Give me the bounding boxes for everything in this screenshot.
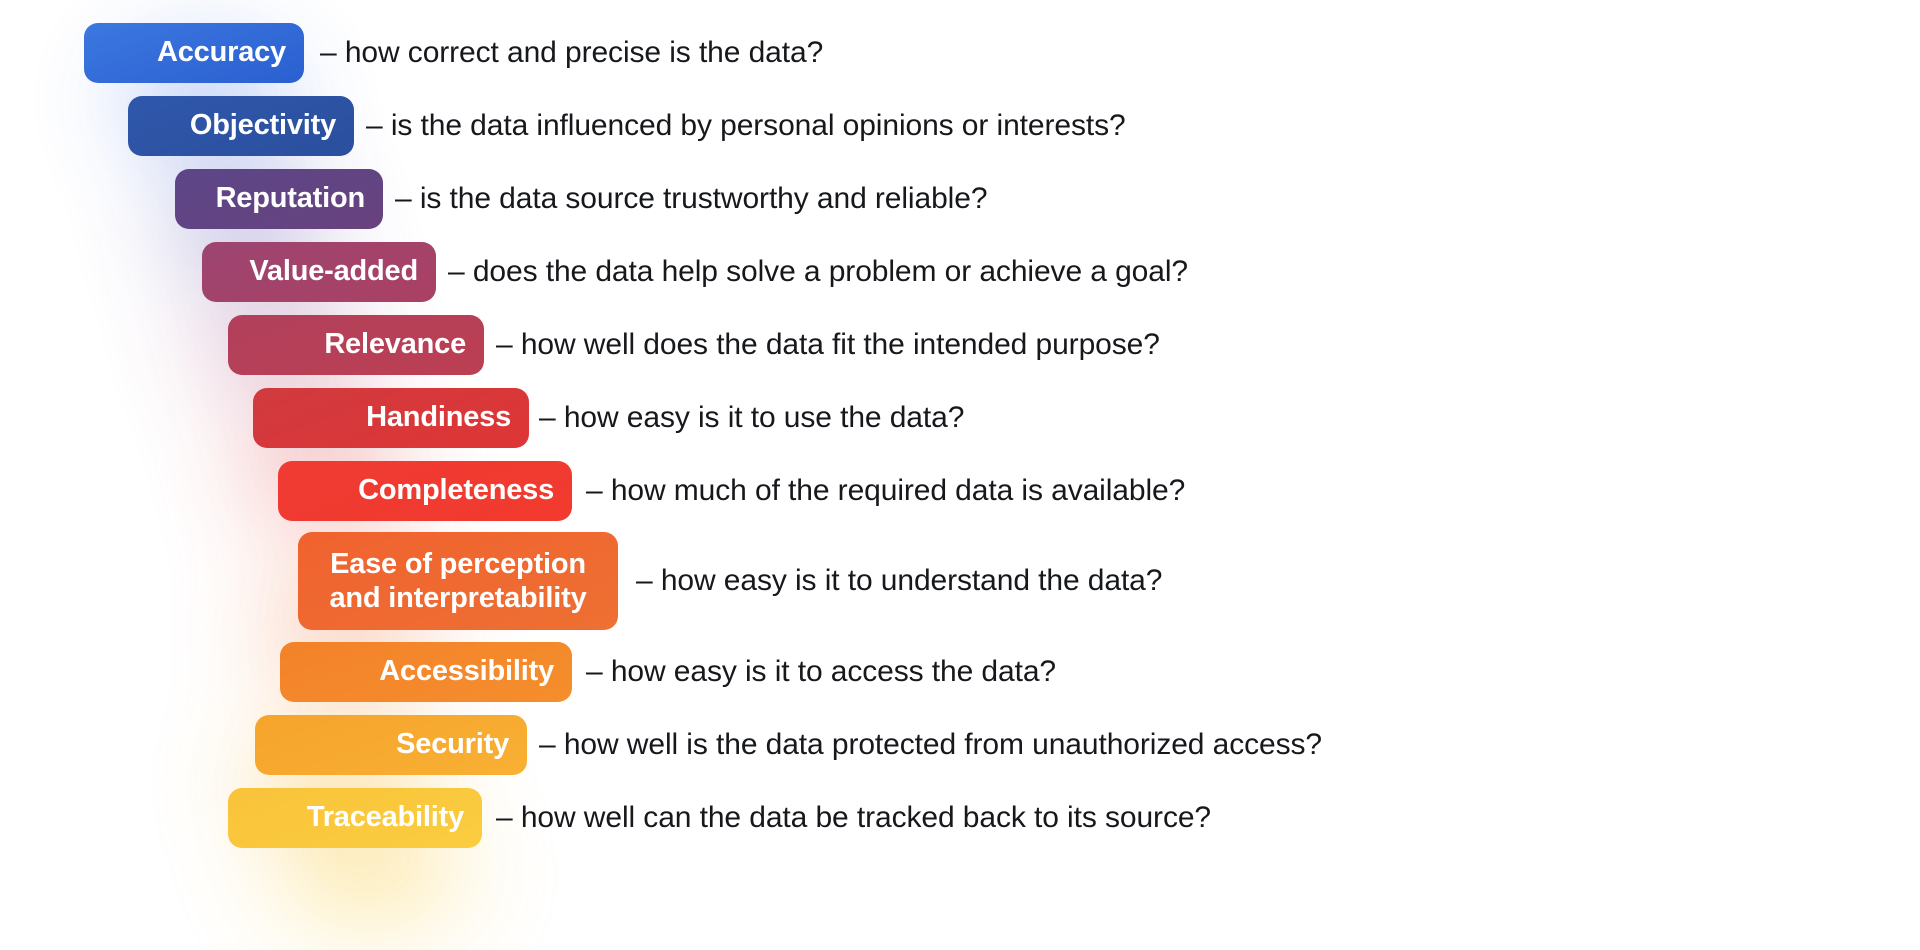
slide-canvas: Accuracy– how correct and precise is the… [0,0,1920,950]
criteria-label-line1: Ease of perception [329,547,586,581]
criteria-description: – how easy is it to use the data? [539,401,964,435]
criteria-row: Handiness– how easy is it to use the dat… [0,381,1920,454]
criteria-pill[interactable]: Accessibility [280,642,572,702]
criteria-label: Objectivity [190,108,336,142]
criteria-description: – is the data source trustworthy and rel… [395,182,987,216]
criteria-pill[interactable]: Objectivity [128,96,354,156]
criteria-label: Security [396,727,509,761]
criteria-pill[interactable]: Security [255,715,527,775]
criteria-description: – how easy is it to understand the data? [636,564,1162,598]
criteria-row: Objectivity– is the data influenced by p… [0,89,1920,162]
criteria-pill[interactable]: Accuracy [84,23,304,83]
criteria-label: Relevance [324,327,466,361]
criteria-row: Accessibility– how easy is it to access … [0,635,1920,708]
criteria-description: – how well is the data protected from un… [539,728,1322,762]
criteria-row: Completeness– how much of the required d… [0,454,1920,527]
criteria-description: – how correct and precise is the data? [320,36,823,70]
criteria-description: – how well can the data be tracked back … [496,801,1211,835]
criteria-row: Reputation– is the data source trustwort… [0,162,1920,235]
criteria-description: – is the data influenced by personal opi… [366,109,1126,143]
criteria-description: – how easy is it to access the data? [586,655,1056,689]
criteria-description: – how well does the data fit the intende… [496,328,1160,362]
criteria-row: Security– how well is the data protected… [0,708,1920,781]
criteria-row: Traceability– how well can the data be t… [0,781,1920,854]
criteria-label-line2: and interpretability [329,581,586,615]
criteria-label: Traceability [307,800,464,834]
criteria-label: Value-added [249,254,418,288]
criteria-description: – does the data help solve a problem or … [448,255,1188,289]
criteria-label: Accessibility [379,654,554,688]
criteria-description: – how much of the required data is avail… [586,474,1185,508]
criteria-pill[interactable]: Traceability [228,788,482,848]
criteria-row: Relevance– how well does the data fit th… [0,308,1920,381]
criteria-pill[interactable]: Handiness [253,388,529,448]
criteria-label: Reputation [216,181,365,215]
criteria-label: Handiness [366,400,511,434]
criteria-label: Completeness [358,473,554,507]
criteria-pill[interactable]: Completeness [278,461,572,521]
criteria-list: Accuracy– how correct and precise is the… [0,0,1920,854]
criteria-row: Accuracy– how correct and precise is the… [0,16,1920,89]
criteria-row: Ease of perceptionand interpretability– … [0,527,1920,635]
criteria-label: Accuracy [157,35,286,69]
criteria-pill[interactable]: Ease of perceptionand interpretability [298,532,618,630]
criteria-pill[interactable]: Value-added [202,242,436,302]
criteria-pill[interactable]: Relevance [228,315,484,375]
criteria-row: Value-added– does the data help solve a … [0,235,1920,308]
criteria-pill[interactable]: Reputation [175,169,383,229]
criteria-label: Ease of perceptionand interpretability [329,547,586,615]
